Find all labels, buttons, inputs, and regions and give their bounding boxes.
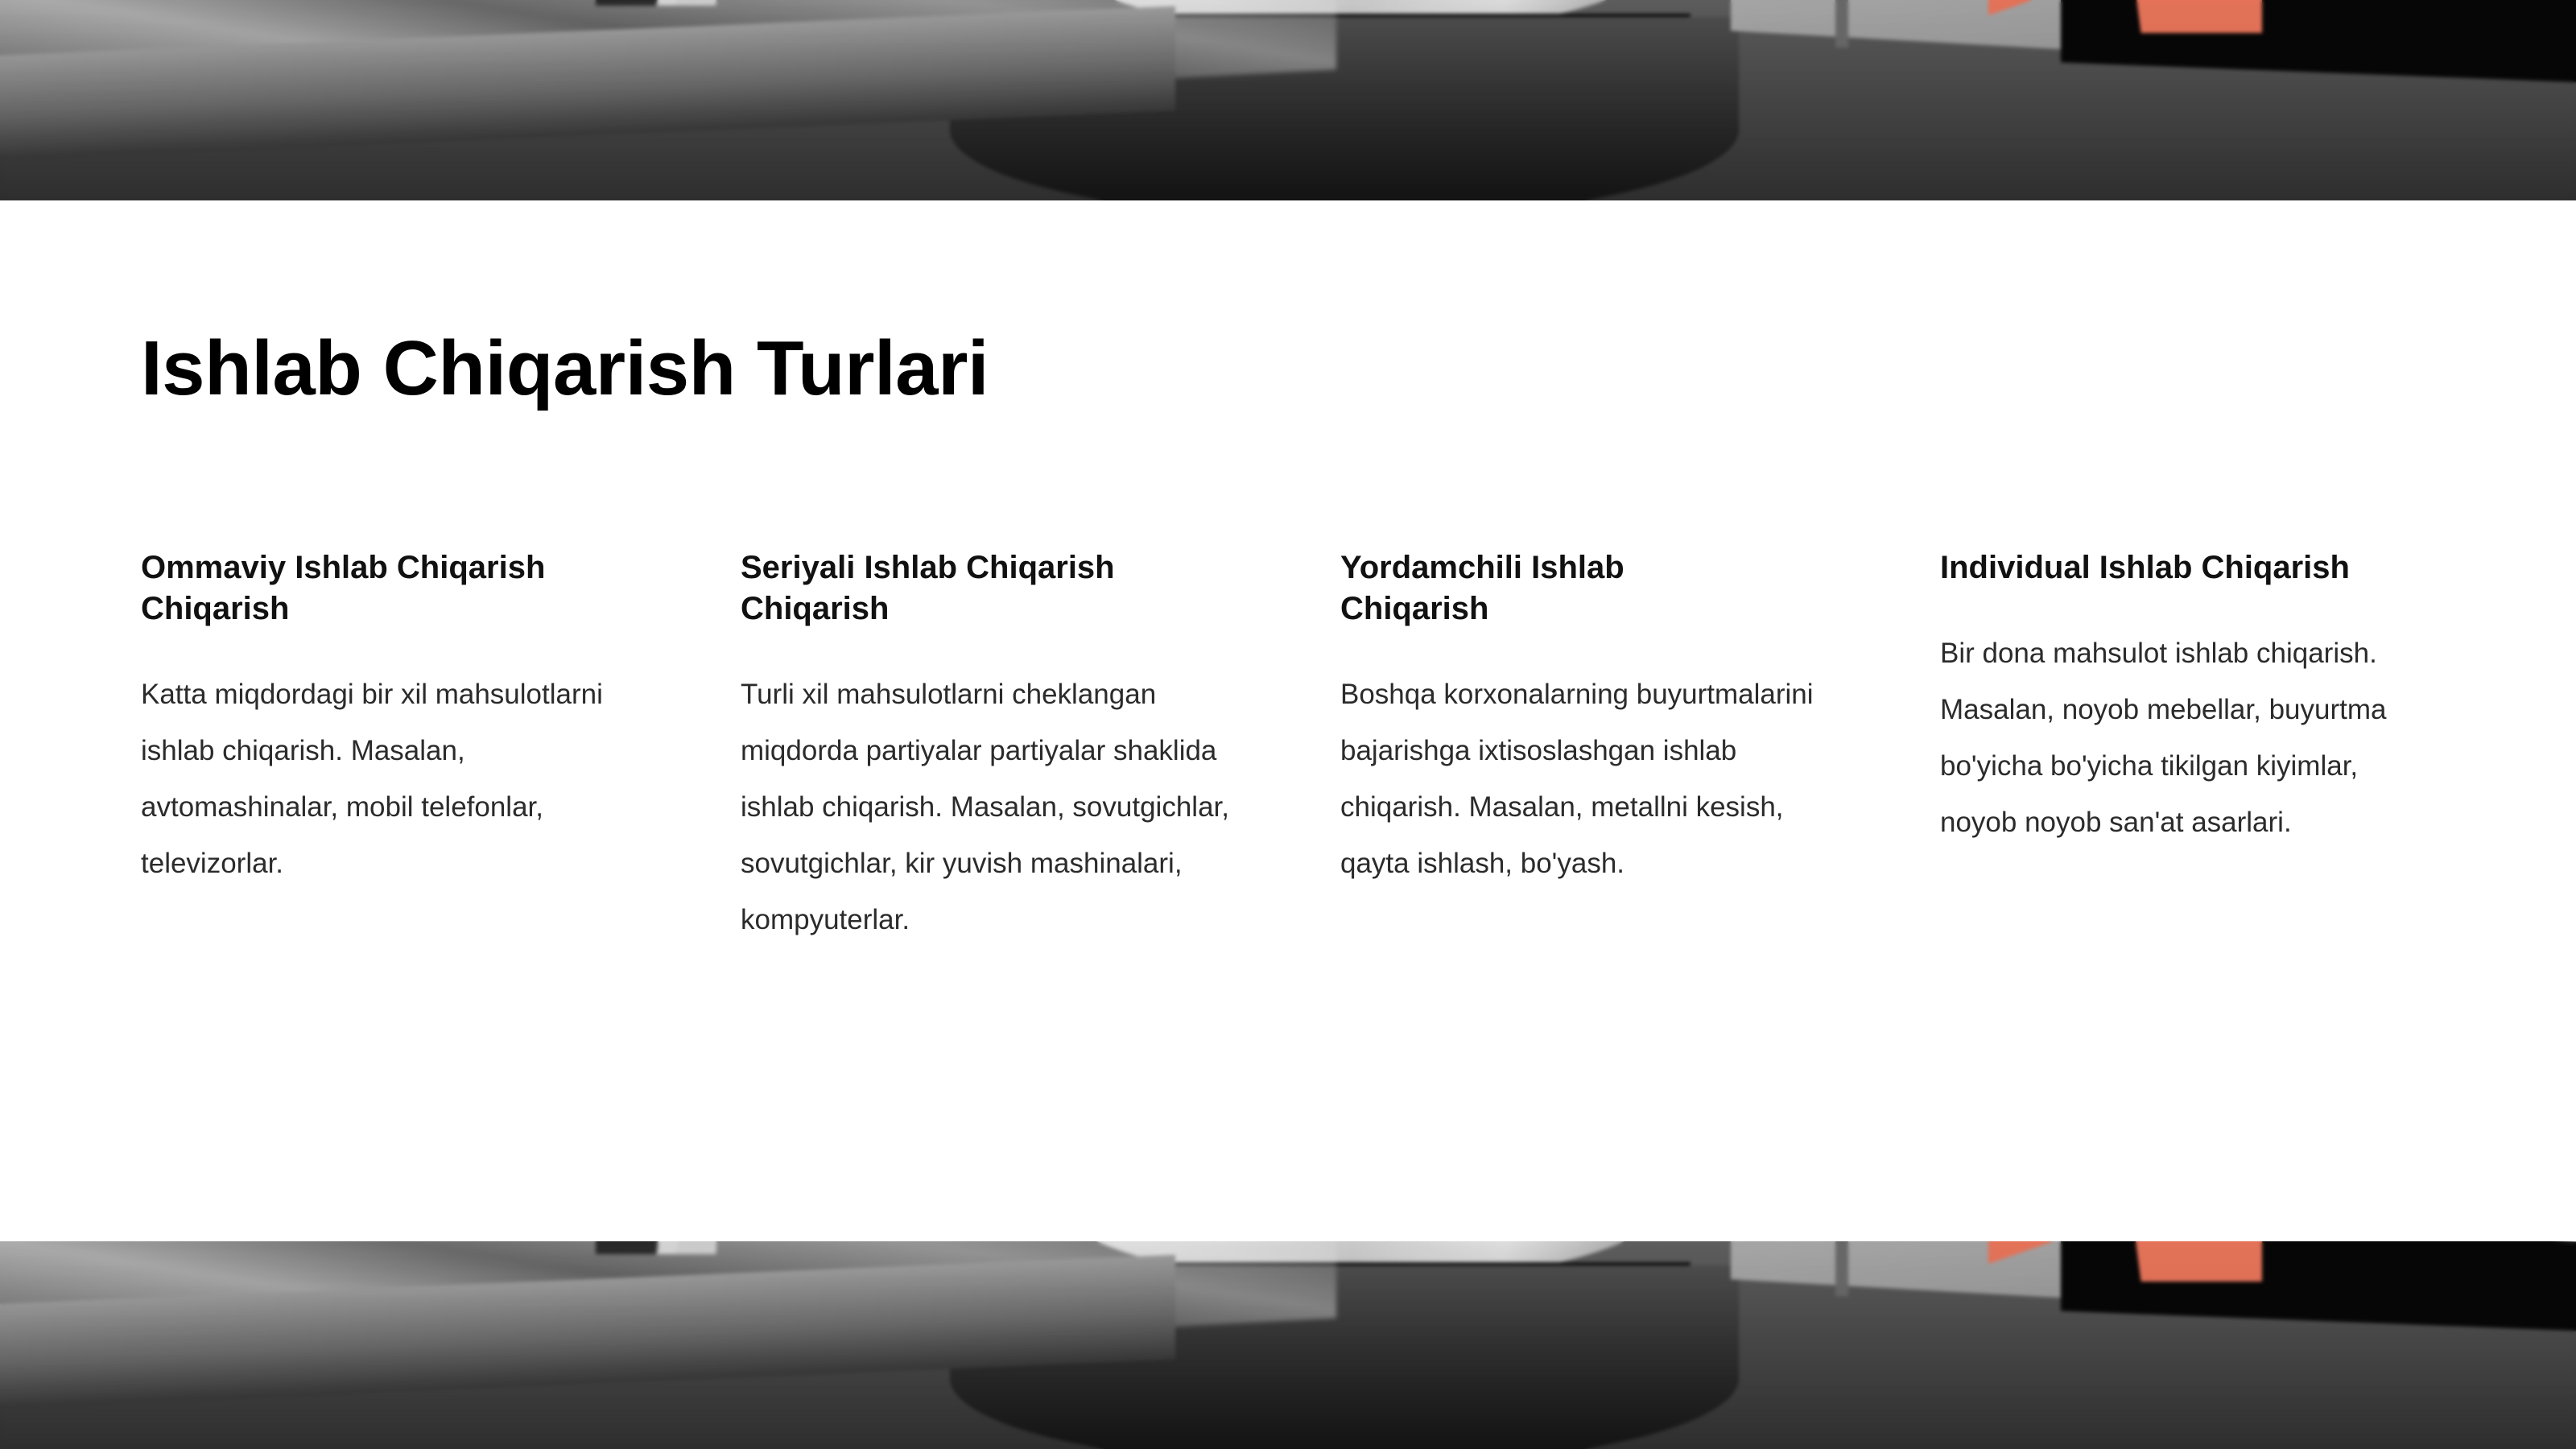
- bottom-image-band: [0, 1241, 2576, 1449]
- column-body: Turli xil mahsulotlarni cheklangan miqdo…: [741, 667, 1240, 948]
- top-image-band: [0, 0, 2576, 200]
- column-heading: Ommaviy Ishlab Chiqarish Chiqarish: [141, 547, 624, 630]
- photo-blur-overlay: [0, 0, 2576, 200]
- slide: Ishlab Chiqarish Turlari Ommaviy Ishlab …: [0, 0, 2576, 1449]
- column-individual: Individual Ishlab Chiqarish Bir dona mah…: [1940, 547, 2439, 948]
- column-seriyali: Seriyali Ishlab Chiqarish Chiqarish Turl…: [741, 547, 1240, 948]
- column-body: Katta miqdordagi bir xil mahsulotlarni i…: [141, 667, 632, 892]
- columns-grid: Ommaviy Ishlab Chiqarish Chiqarish Katta…: [141, 547, 2459, 948]
- column-yordamchili: Yordamchili Ishlab Chiqarish Boshqa korx…: [1340, 547, 1839, 948]
- column-heading: Individual Ishlab Chiqarish: [1940, 547, 2423, 588]
- column-heading: Yordamchili Ishlab Chiqarish: [1340, 547, 1719, 630]
- column-ommaviy: Ommaviy Ishlab Chiqarish Chiqarish Katta…: [141, 547, 640, 948]
- column-body: Bir dona mahsulot ishlab chiqarish. Masa…: [1940, 625, 2431, 851]
- page-title: Ishlab Chiqarish Turlari: [141, 330, 989, 407]
- column-heading: Seriyali Ishlab Chiqarish Chiqarish: [741, 547, 1224, 630]
- photo-blur-overlay: [0, 1241, 2576, 1449]
- column-body: Boshqa korxonalarning buyurtmalarini baj…: [1340, 667, 1831, 892]
